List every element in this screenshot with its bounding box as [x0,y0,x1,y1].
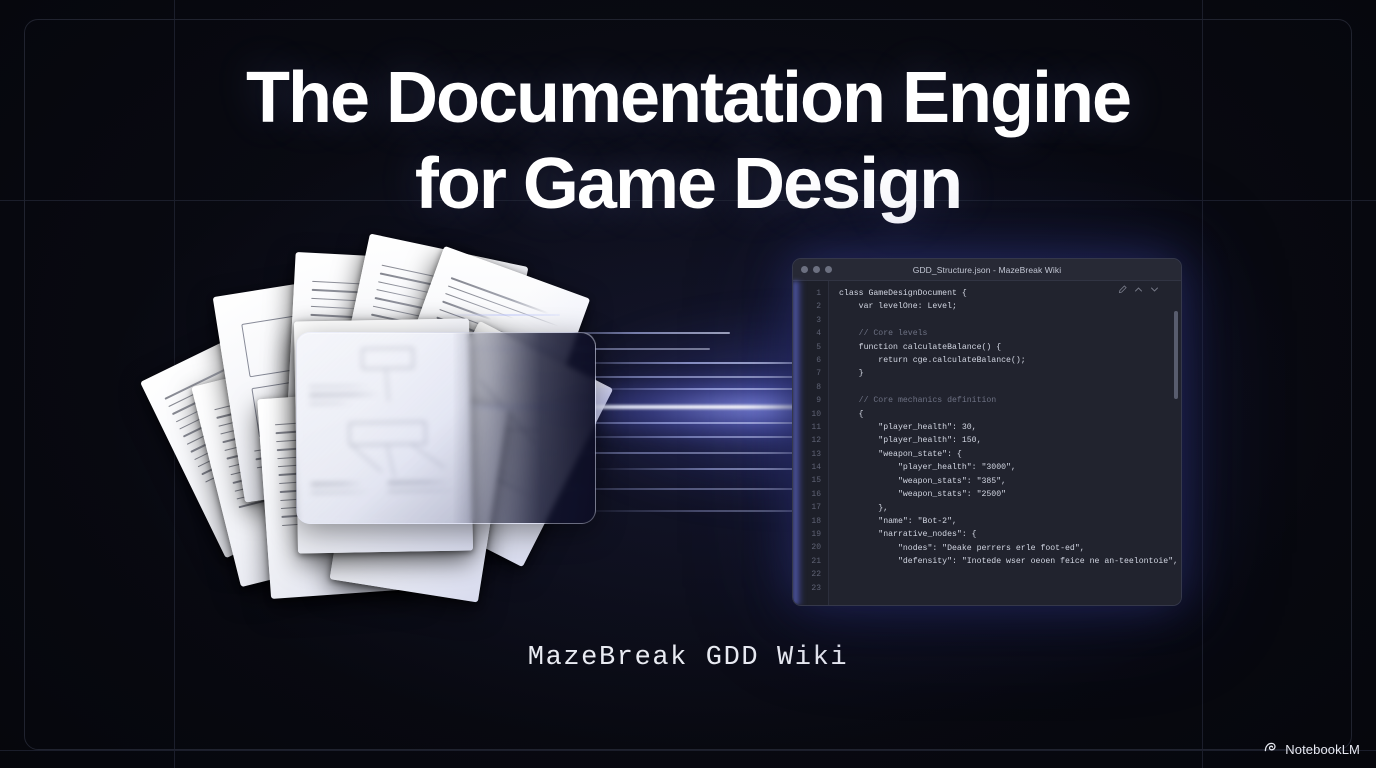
subtitle-caption: MazeBreak GDD Wiki [0,643,1376,673]
line-number: 15 [793,474,828,487]
line-number: 21 [793,555,828,568]
line-number: 12 [793,434,828,447]
line-number: 9 [793,394,828,407]
line-number: 13 [793,448,828,461]
notebooklm-logo: NotebookLM [1263,739,1360,760]
line-number: 11 [793,421,828,434]
editor-title: GDD_Structure.json - MazeBreak Wiki [793,265,1181,275]
code-editor-window[interactable]: GDD_Structure.json - MazeBreak Wiki 1234… [792,258,1182,606]
line-number: 14 [793,461,828,474]
page-title-line-2: for Game Design [0,148,1376,220]
page-title: The Documentation Engine for Game Design [0,62,1376,220]
line-number: 22 [793,568,828,581]
line-number: 7 [793,367,828,380]
line-number: 20 [793,541,828,554]
line-number: 2 [793,300,828,313]
code-text: class GameDesignDocument { var levelOne:… [839,287,1181,569]
hero-illustration: GDD_Structure.json - MazeBreak Wiki 1234… [0,236,1376,581]
notebooklm-spiral-icon [1263,739,1279,760]
line-number: 16 [793,488,828,501]
vertical-scrollbar[interactable] [1174,311,1178,399]
chevron-down-icon[interactable] [1150,285,1159,294]
line-number: 1 [793,287,828,300]
line-number: 8 [793,381,828,394]
line-number: 17 [793,501,828,514]
line-number: 3 [793,314,828,327]
code-area[interactable]: class GameDesignDocument { var levelOne:… [829,281,1181,605]
grid-line-horizontal-bottom [0,750,1376,751]
page-title-line-1: The Documentation Engine [246,58,1130,138]
editor-title-bar[interactable]: GDD_Structure.json - MazeBreak Wiki [793,259,1181,281]
line-number: 5 [793,341,828,354]
line-number: 6 [793,354,828,367]
line-number: 18 [793,515,828,528]
line-number: 19 [793,528,828,541]
editor-body: 1234567891011121314151617181920212223 cl… [793,281,1181,605]
line-number: 23 [793,582,828,595]
editor-action-icons[interactable] [1118,285,1159,294]
handwritten-notes-stack [168,244,618,584]
line-number: 4 [793,327,828,340]
line-number-gutter: 1234567891011121314151617181920212223 [793,281,829,605]
notebooklm-wordmark: NotebookLM [1285,742,1360,757]
frosted-glass-panel [296,332,596,524]
chevron-up-icon[interactable] [1134,285,1143,294]
edit-icon[interactable] [1118,285,1127,294]
line-number: 10 [793,408,828,421]
slide-canvas: The Documentation Engine for Game Design [0,0,1376,768]
